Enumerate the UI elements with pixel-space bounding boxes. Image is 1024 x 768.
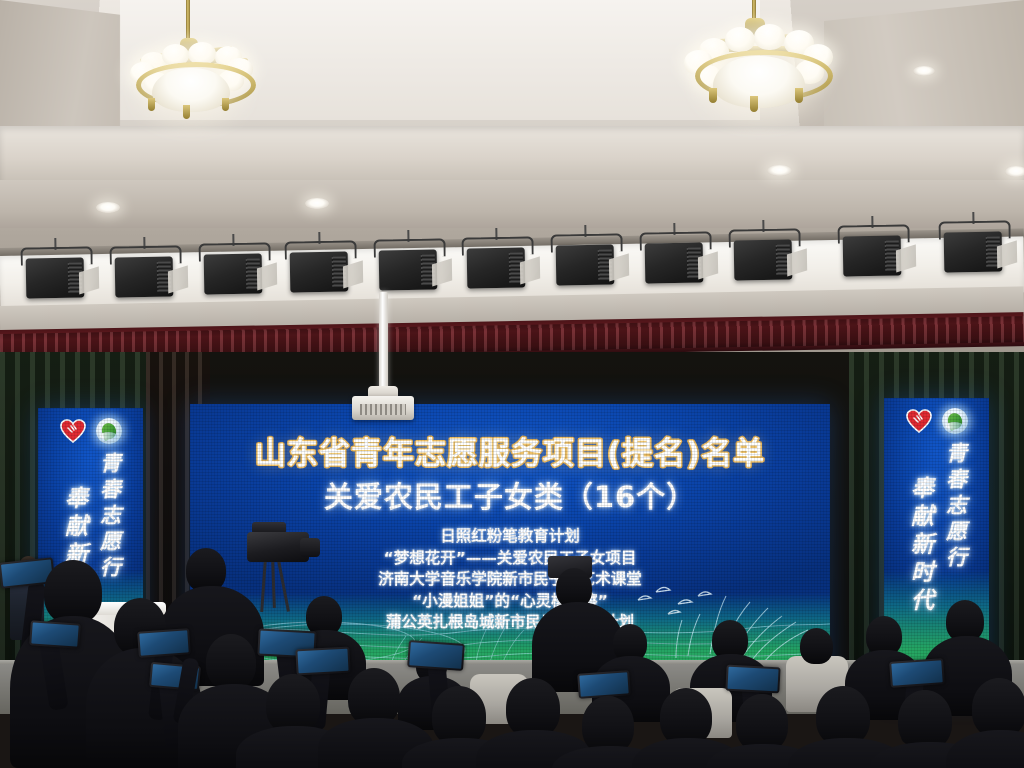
stage-spotlight (556, 244, 615, 285)
chandelier-drop (148, 98, 155, 111)
audience-head (898, 690, 952, 750)
audience-head (266, 674, 320, 734)
audience-shoulders (946, 730, 1024, 768)
screen-title: 山东省青年志愿服务项目(提名)名单 (190, 428, 830, 473)
stage-spotlight (26, 257, 85, 298)
audience-head (206, 634, 256, 690)
smartphone (577, 670, 631, 699)
spotlight-yoke (938, 220, 1010, 239)
spotlight-yoke (373, 238, 445, 257)
smartphone (407, 640, 465, 671)
smartphone (29, 620, 81, 648)
spotlight-yoke (198, 242, 270, 261)
phone-screen (139, 630, 188, 655)
volunteer-emblem-icon (942, 408, 968, 434)
chandelier-drop (750, 96, 758, 112)
ceiling-band-upper (0, 126, 1024, 184)
stage-spotlight (379, 249, 438, 290)
chandelier-left (100, 0, 300, 130)
spotlight-yoke (109, 245, 181, 264)
phone-screen (579, 672, 628, 696)
spotlight-yoke (639, 231, 711, 250)
chandelier-rod (186, 0, 190, 40)
chandelier-bulb (754, 24, 785, 50)
spotlight-yoke (728, 228, 800, 247)
phone-screen (891, 660, 942, 685)
downlight (305, 198, 329, 209)
heart-hand-icon (906, 409, 932, 433)
stage-spotlight (944, 231, 1003, 272)
tripod-leg (260, 560, 267, 612)
chandelier-drop (795, 88, 803, 103)
phone-screen (727, 667, 778, 692)
stage-spotlight (467, 247, 526, 288)
downlight (767, 165, 792, 176)
spotlight-yoke (550, 233, 622, 252)
ceiling-projector-icon (352, 396, 414, 420)
banner-logos-left (38, 418, 143, 444)
chandelier-bowl (713, 56, 805, 108)
spotlight-yoke (284, 240, 356, 259)
audience-head (432, 686, 486, 746)
downlight (913, 66, 935, 76)
chandelier-drop (709, 88, 717, 103)
audience-head (972, 678, 1024, 738)
audience-head (816, 686, 870, 746)
downlight (96, 202, 120, 213)
banner-logos-right (884, 408, 989, 434)
tripod-leg (271, 560, 276, 608)
downlight (1005, 166, 1024, 177)
volunteer-emblem-icon (96, 418, 122, 444)
stage-spotlight (115, 256, 174, 297)
smartphone (725, 665, 780, 694)
conference-hall-photo: 奉献新时代 青春志愿行 奉献新时代 青春志愿行 (0, 0, 1024, 768)
phone-screen (31, 622, 78, 646)
audience-head (506, 678, 560, 738)
smartphone (295, 647, 350, 676)
spotlight-yoke (837, 224, 909, 243)
phone-screen (409, 642, 462, 669)
camera-lens (300, 538, 320, 557)
smartphone (889, 658, 945, 688)
chandelier-drop (222, 98, 229, 111)
stage-spotlight (734, 239, 793, 280)
stage-spotlight (290, 251, 349, 292)
spotlight-yoke (20, 246, 92, 265)
chandelier-bowl (152, 68, 230, 112)
stage-spotlight (204, 253, 263, 294)
stage-spotlight (843, 235, 902, 276)
spotlight-yoke (461, 236, 533, 255)
chandelier-right (655, 0, 875, 130)
tripod-leg (277, 560, 290, 612)
screen-subtitle: 关爱农民工子女类（16个） (190, 474, 830, 516)
audience-area (0, 538, 1024, 768)
stage-spotlight (645, 242, 704, 283)
heart-hand-icon (60, 419, 86, 443)
chandelier-drop (183, 105, 190, 119)
audience-head (800, 628, 833, 664)
phone-screen (297, 649, 348, 674)
chandelier-bulb (725, 27, 755, 52)
smartphone (137, 628, 191, 658)
audience-head (44, 560, 102, 624)
